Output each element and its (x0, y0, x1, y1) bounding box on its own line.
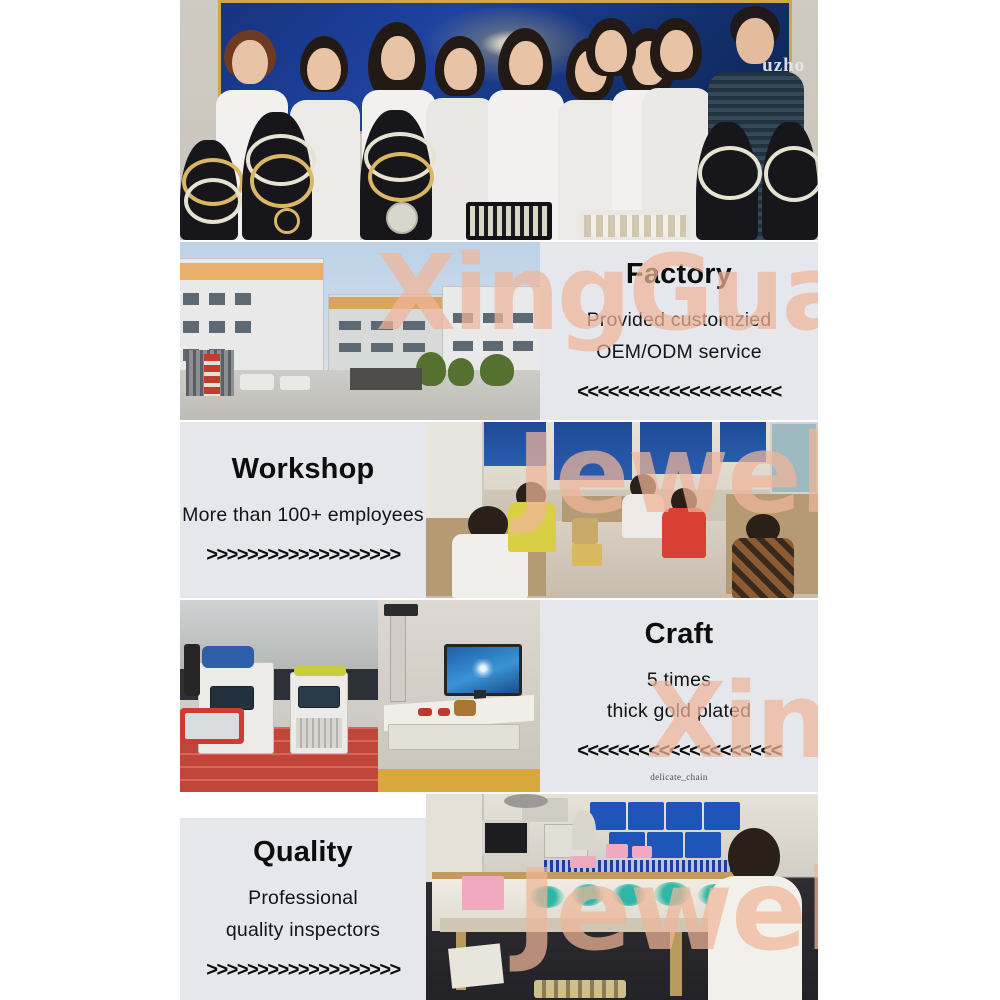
panel-quality-arrows: >>>>>>>>>>>>>>>>>>> (206, 959, 399, 982)
row-factory: Factory Provided customzied OEM/ODM serv… (180, 242, 818, 420)
panel-workshop: Workshop More than 100+ employees >>>>>>… (180, 422, 426, 598)
photo-team: uzho (180, 0, 818, 240)
row-workshop: Workshop More than 100+ employees >>>>>>… (180, 422, 818, 598)
panel-workshop-title: Workshop (232, 453, 375, 486)
panel-craft-line-2: thick gold plated (607, 701, 751, 722)
row-team: uzho (180, 0, 818, 240)
panel-workshop-line-1: More than 100+ employees (182, 505, 424, 526)
row-quality: Quality Professional quality inspectors … (180, 794, 818, 1000)
panel-quality-title: Quality (253, 836, 353, 869)
panel-factory: Factory Provided customzied OEM/ODM serv… (540, 242, 818, 420)
photo-factory-exterior (180, 242, 540, 420)
panel-quality-line-1: Professional (248, 888, 358, 909)
panel-craft-line-1: 5 times (647, 670, 711, 691)
panel-factory-line-1: Provided customzied (587, 310, 772, 331)
panel-quality-line-2: quality inspectors (226, 920, 380, 941)
panel-craft-micro-label: delicate_chain (650, 772, 708, 782)
row-craft: Craft 5 times thick gold plated <<<<<<<<… (180, 600, 818, 792)
panel-craft: Craft 5 times thick gold plated <<<<<<<<… (540, 600, 818, 792)
panel-factory-arrows: <<<<<<<<<<<<<<<<<<<< (577, 381, 781, 404)
panel-workshop-arrows: >>>>>>>>>>>>>>>>>>> (206, 544, 399, 567)
panel-craft-arrows: <<<<<<<<<<<<<<<<<<<< (577, 740, 781, 763)
panel-factory-title: Factory (626, 258, 732, 291)
infographic-canvas: uzho (0, 0, 1000, 1000)
content-board: uzho (180, 0, 818, 1000)
panel-quality: Quality Professional quality inspectors … (180, 818, 426, 1000)
photo-workshop (426, 422, 818, 598)
photo-laser-welder (180, 600, 378, 792)
photo-qc-bench (426, 794, 818, 1000)
panel-craft-title: Craft (645, 618, 714, 651)
panel-factory-line-2: OEM/ODM service (596, 342, 762, 363)
photo-laser-marker (378, 600, 540, 792)
